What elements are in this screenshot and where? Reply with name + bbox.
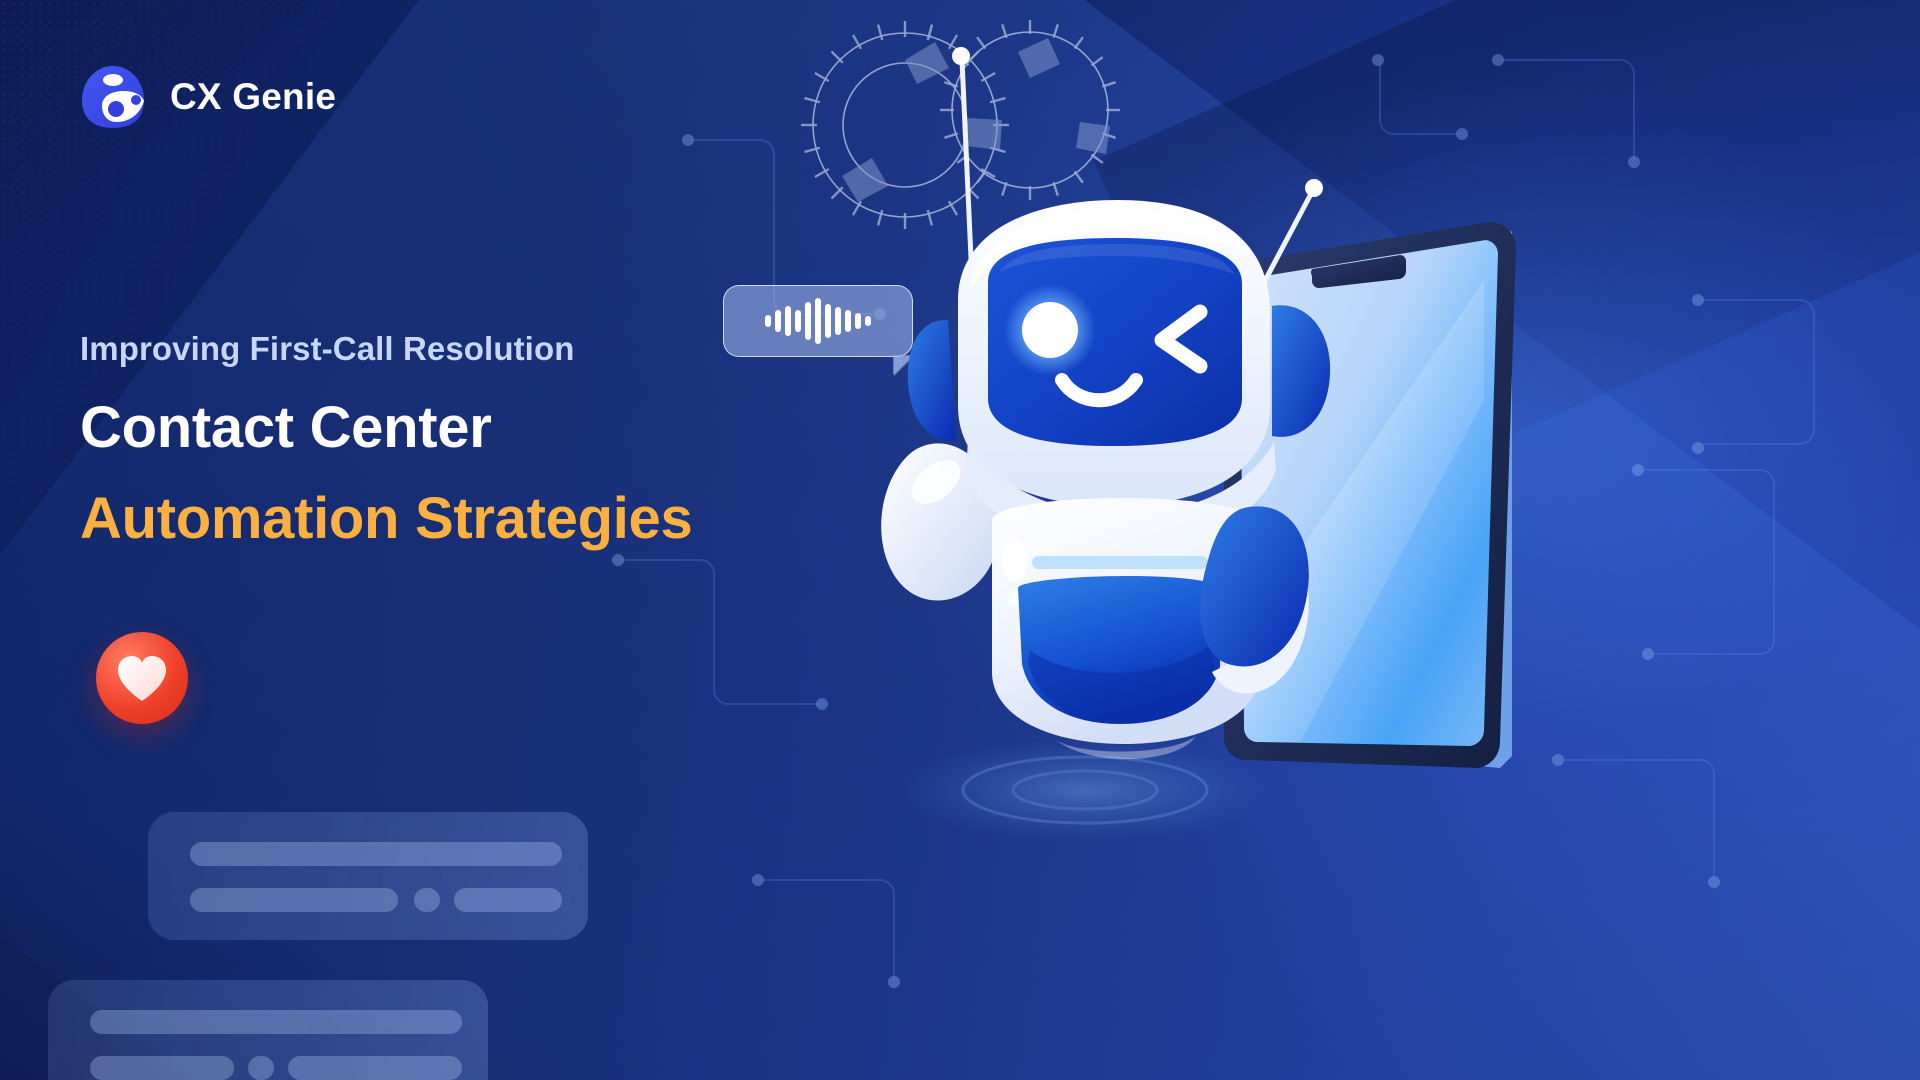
antenna-left bbox=[962, 60, 972, 280]
headline-line-1: Contact Center bbox=[80, 398, 692, 459]
robot-eye-left bbox=[1022, 302, 1078, 358]
skeleton-line bbox=[454, 888, 562, 912]
brand-name: CX Genie bbox=[170, 76, 336, 118]
cx-genie-blob-icon bbox=[78, 62, 148, 132]
chat-skeleton-card-1 bbox=[148, 812, 588, 940]
robot-ear-left bbox=[908, 320, 956, 441]
antenna-tip-right bbox=[1305, 179, 1323, 197]
heart-icon bbox=[115, 653, 169, 703]
skeleton-line bbox=[288, 1056, 462, 1080]
skeleton-line bbox=[90, 1056, 234, 1080]
skeleton-dot bbox=[414, 888, 440, 912]
skeleton-line bbox=[190, 888, 398, 912]
hero-banner: CX Genie Improving First-Call Resolution… bbox=[0, 0, 1920, 1080]
heart-reaction-badge[interactable] bbox=[96, 632, 188, 724]
illustration-group bbox=[700, 0, 1920, 1080]
antenna-tip-left bbox=[952, 47, 970, 65]
headline-line-2: Automation Strategies bbox=[80, 489, 692, 550]
robot-chest-light bbox=[1032, 556, 1208, 569]
chat-skeleton-card-2 bbox=[48, 980, 488, 1080]
brand-logo[interactable]: CX Genie bbox=[78, 62, 336, 132]
skeleton-line bbox=[190, 842, 562, 866]
skeleton-dot bbox=[248, 1056, 274, 1080]
skeleton-line bbox=[90, 1010, 462, 1034]
headline-eyebrow: Improving First-Call Resolution bbox=[80, 330, 692, 368]
headline-block: Improving First-Call Resolution Contact … bbox=[80, 330, 692, 550]
